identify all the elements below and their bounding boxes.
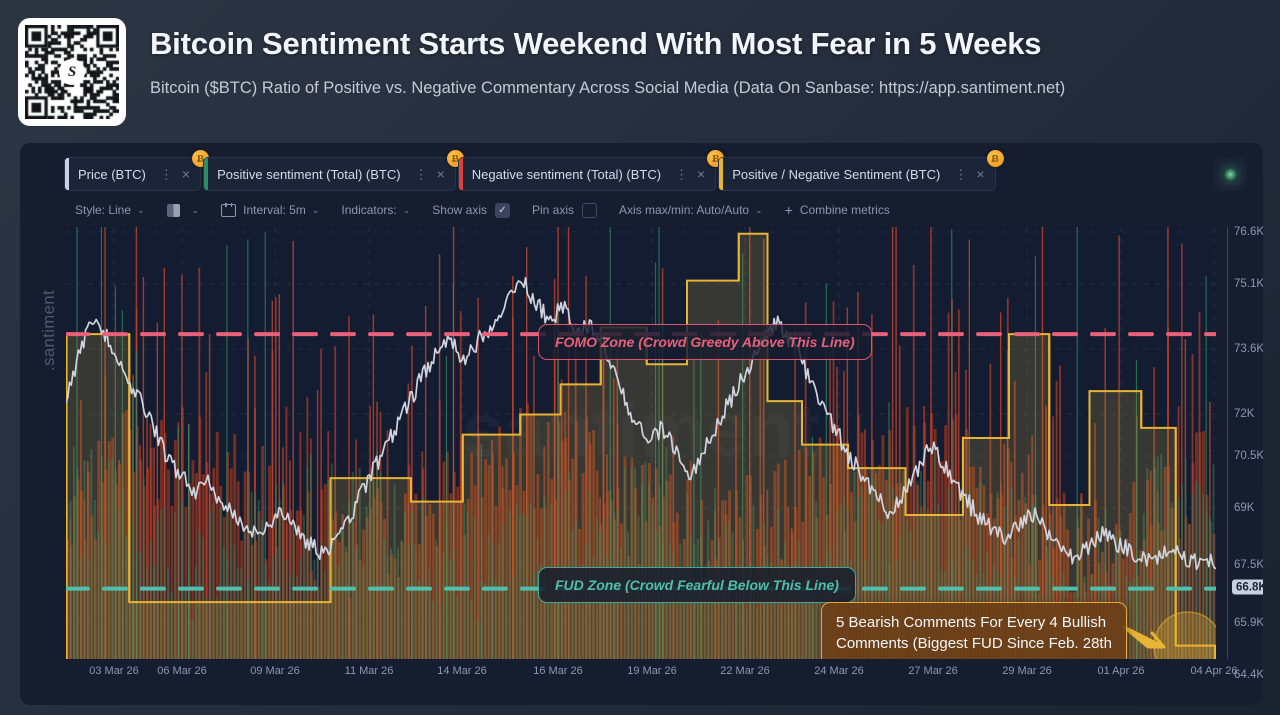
x-axis-tick: 16 Mar 26 [533,665,583,677]
title-block: Bitcoin Sentiment Starts Weekend With Mo… [150,18,1065,98]
y-axis-tick: 69K [1234,502,1254,514]
y-axis-tick: 64.4K [1234,669,1263,681]
x-axis-tick: 06 Mar 26 [157,665,207,677]
x-axis-tick: 29 Mar 26 [1002,665,1052,677]
chevron-down-icon: ⌄ [755,205,763,216]
page-subtitle: Bitcoin ($BTC) Ratio of Positive vs. Neg… [150,79,1065,98]
x-axis-tick: 27 Mar 26 [908,665,958,677]
callout-line-2: Comments (Biggest FUD Since Feb. 28th [836,633,1112,654]
style-label: Style: Line [75,203,131,217]
bearish-comments-callout: 5 Bearish Comments For Every 4 Bullish C… [821,602,1127,659]
chevron-down-icon: ⌄ [137,205,145,216]
metric-tab-2[interactable]: Negative sentiment (Total) (BTC)⋮×Ƀ [458,157,716,191]
metric-tab-3[interactable]: Positive / Negative Sentiment (BTC)⋮×Ƀ [718,157,995,191]
axis-minmax-label: Axis max/min: Auto/Auto [619,203,749,217]
x-axis[interactable]: 03 Mar 2606 Mar 2609 Mar 2611 Mar 2614 M… [66,661,1216,685]
y-axis-tick: 67.5K [1234,559,1263,571]
y-axis-tick: 72K [1234,408,1254,420]
metric-close-icon[interactable]: × [697,166,705,182]
metric-tab-bar: Price (BTC)⋮×ɃPositive sentiment (Total)… [64,157,998,191]
interval-label: Interval: 5m [243,203,306,217]
show-axis-label: Show axis [432,203,487,217]
metric-tab-1[interactable]: Positive sentiment (Total) (BTC)⋮×Ƀ [203,157,456,191]
page-title: Bitcoin Sentiment Starts Weekend With Mo… [150,26,1065,62]
metric-menu-icon[interactable]: ⋮ [160,168,170,181]
metric-menu-icon[interactable]: ⋮ [675,168,685,181]
pin-axis-toggle[interactable]: Pin axis [532,203,597,218]
interval-dropdown[interactable]: Interval: 5m ⌄ [221,203,319,217]
chevron-down-icon: ⌄ [192,205,200,216]
metric-tab-0[interactable]: Price (BTC)⋮×Ƀ [64,157,201,191]
metric-close-icon[interactable]: × [976,166,984,182]
chart-controls: Style: Line ⌄ ⌄ Interval: 5m ⌄ Indicator… [75,199,912,221]
chevron-down-icon: ⌄ [403,205,411,216]
x-axis-tick: 11 Mar 26 [345,665,394,677]
metric-close-icon[interactable]: × [437,166,445,182]
x-axis-tick: 14 Mar 26 [437,665,487,677]
combine-metrics-label: Combine metrics [800,203,890,217]
x-axis-tick: 19 Mar 26 [627,665,677,677]
show-axis-toggle[interactable]: Show axis ✓ [432,203,510,218]
x-axis-tick: 03 Mar 26 [89,665,139,677]
plus-icon: + [785,202,793,218]
y-axis-tick: 70.5K [1234,450,1263,462]
y-axis-line [1227,227,1228,659]
chart-panel: .santiment Price (BTC)⋮×ɃPositive sentim… [20,143,1263,705]
santiment-side-brand: .santiment [40,290,59,371]
y-axis-tick: 75.1K [1234,278,1263,290]
metric-tab-label: Price (BTC) [78,167,146,182]
axis-minmax-dropdown[interactable]: Axis max/min: Auto/Auto ⌄ [619,203,763,217]
metric-tab-label: Negative sentiment (Total) (BTC) [472,167,661,182]
metric-tab-label: Positive sentiment (Total) (BTC) [217,167,401,182]
plot-area[interactable]: santiment FOMO Zone (Crowd Greedy Above … [66,227,1216,659]
y-axis-tick: 73.6K [1234,343,1263,355]
fomo-zone-label: FOMO Zone (Crowd Greedy Above This Line) [538,324,872,360]
candlestick-icon [221,204,236,217]
x-axis-tick: 09 Mar 26 [250,665,300,677]
x-axis-tick: 22 Mar 26 [720,665,770,677]
y-axis[interactable]: 76.6K75.1K73.6K72K70.5K69K67.5K65.9K64.4… [1225,227,1263,659]
qr-code-icon: S [18,18,126,126]
style-dropdown[interactable]: Style: Line ⌄ [75,203,145,217]
metric-tab-label: Positive / Negative Sentiment (BTC) [732,167,940,182]
callout-line-1: 5 Bearish Comments For Every 4 Bullish [836,612,1112,633]
bitcoin-badge-icon: Ƀ [987,150,1004,167]
x-axis-tick: 01 Apr 26 [1097,665,1144,677]
status-indicator-icon[interactable] [1213,157,1247,191]
metric-close-icon[interactable]: × [182,166,190,182]
x-axis-tick: 24 Mar 26 [814,665,864,677]
metric-color-bar [719,158,723,190]
pin-axis-label: Pin axis [532,203,574,217]
x-axis-tick: 04 Apr 26 [1190,665,1237,677]
indicators-label: Indicators: [341,203,396,217]
metric-color-bar [65,158,69,190]
screenshot-root: S Bitcoin Sentiment Starts Weekend With … [0,0,1280,715]
indicators-dropdown[interactable]: Indicators: ⌄ [341,203,410,217]
y-axis-current-value: 66.8K [1232,580,1263,595]
y-axis-tick: 65.9K [1234,617,1263,629]
qr-center-logo: S [59,59,85,85]
y-axis-tick: 76.6K [1234,226,1263,238]
show-axis-checkbox[interactable]: ✓ [495,203,510,218]
combine-metrics-button[interactable]: + Combine metrics [785,202,890,218]
metric-menu-icon[interactable]: ⋮ [415,168,425,181]
fud-zone-label: FUD Zone (Crowd Fearful Below This Line) [538,567,856,603]
header: S Bitcoin Sentiment Starts Weekend With … [0,0,1280,140]
metric-color-bar [204,158,208,190]
pin-axis-checkbox[interactable] [582,203,597,218]
metric-menu-icon[interactable]: ⋮ [954,168,964,181]
metric-color-bar [459,158,463,190]
chevron-down-icon: ⌄ [312,205,320,216]
color-swatch-dropdown[interactable]: ⌄ [167,204,200,217]
color-swatch-icon [167,204,180,217]
